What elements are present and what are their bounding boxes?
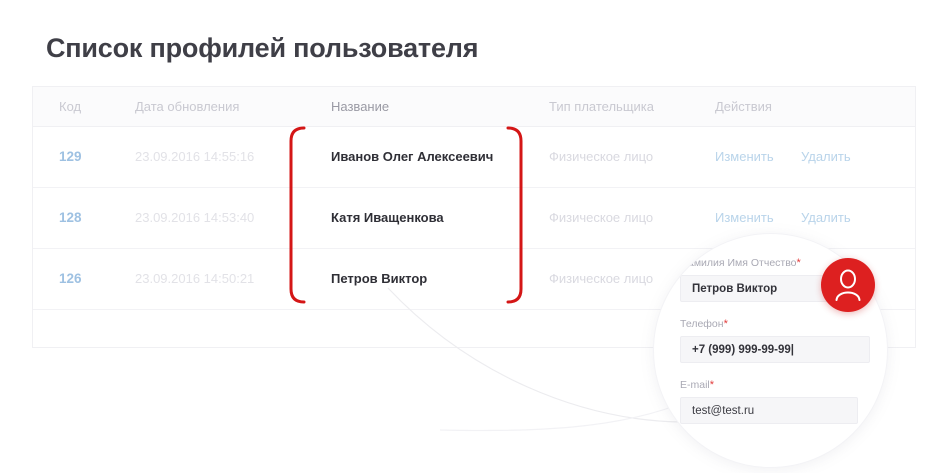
field-label-email: E-mail* — [680, 379, 714, 391]
user-icon — [834, 269, 862, 301]
row-name: Катя Иващенкова — [331, 210, 444, 225]
field-label-phone: Телефон* — [680, 318, 728, 330]
fullname-input-value: Петров Виктор — [692, 276, 777, 303]
row-edit-link[interactable]: Изменить — [715, 149, 774, 164]
row-payer-type: Физическое лицо — [549, 149, 653, 164]
row-delete-link[interactable]: Удалить — [801, 210, 851, 225]
screen-root: Список профилей пользователя Код Дата об… — [0, 0, 950, 473]
column-header-code[interactable]: Код — [59, 99, 81, 114]
table-row[interactable]: 129 23.09.2016 14:55:16 Иванов Олег Алек… — [33, 127, 915, 188]
phone-input-value: +7 (999) 999-99-99| — [692, 337, 794, 364]
required-marker: * — [710, 379, 714, 391]
row-date: 23.09.2016 14:55:16 — [135, 149, 254, 164]
row-code[interactable]: 129 — [59, 149, 82, 164]
column-header-type[interactable]: Тип плательщика — [549, 99, 654, 114]
row-delete-link[interactable]: Удалить — [801, 149, 851, 164]
field-label-email-text: E-mail — [680, 379, 710, 391]
row-date: 23.09.2016 14:50:21 — [135, 271, 254, 286]
required-marker: * — [797, 257, 801, 269]
column-header-date[interactable]: Дата обновления — [135, 99, 239, 114]
magnifier-panel: Фамилия Имя Отчество* Петров Виктор Теле… — [653, 233, 888, 468]
row-name: Иванов Олег Алексеевич — [331, 149, 493, 164]
row-edit-link[interactable]: Изменить — [715, 210, 774, 225]
column-header-actions[interactable]: Действия — [715, 99, 772, 114]
field-label-phone-text: Телефон — [680, 318, 724, 330]
row-code[interactable]: 128 — [59, 210, 82, 225]
row-payer-type: Физическое лицо — [549, 210, 653, 225]
required-marker: * — [724, 318, 728, 330]
table-header-row: Код Дата обновления Название Тип платель… — [33, 87, 915, 127]
email-input[interactable]: test@test.ru — [680, 397, 858, 424]
row-code[interactable]: 126 — [59, 271, 82, 286]
column-header-name[interactable]: Название — [331, 99, 389, 114]
row-date: 23.09.2016 14:53:40 — [135, 210, 254, 225]
avatar[interactable] — [821, 258, 875, 312]
field-label-fullname-text: Фамилия Имя Отчество — [680, 257, 797, 269]
field-label-fullname: Фамилия Имя Отчество* — [680, 257, 801, 269]
page-title: Список профилей пользователя — [46, 33, 478, 64]
phone-input[interactable]: +7 (999) 999-99-99| — [680, 336, 870, 363]
email-input-value: test@test.ru — [692, 398, 754, 425]
